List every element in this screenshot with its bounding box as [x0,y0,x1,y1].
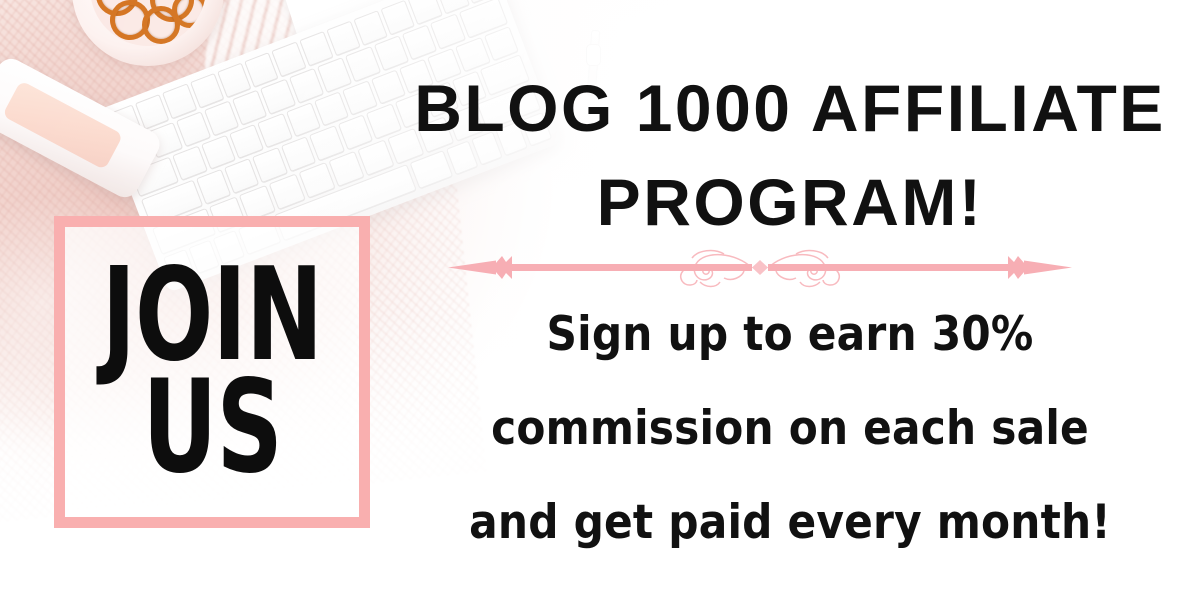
banner-content: JOIN US BLOG 1000 AFFILIATE PROGRAM! [0,0,1200,600]
body-copy-line-3: and get paid every month! [400,476,1180,570]
join-us-line-2: US [142,373,282,483]
body-copy: Sign up to earn 30% commission on each s… [400,288,1180,570]
affiliate-program-banner: JOIN US BLOG 1000 AFFILIATE PROGRAM! [0,0,1200,600]
ornamental-divider [448,244,1072,290]
join-us-badge[interactable]: JOIN US [54,216,370,528]
body-copy-line-1: Sign up to earn 30% [400,288,1180,382]
body-copy-line-2: commission on each sale [400,382,1180,476]
headline-line-1: BLOG 1000 AFFILIATE [390,62,1190,156]
ornamental-divider-icon [448,244,1072,290]
headline: BLOG 1000 AFFILIATE PROGRAM! [390,62,1190,249]
headline-line-2: PROGRAM! [390,156,1190,250]
